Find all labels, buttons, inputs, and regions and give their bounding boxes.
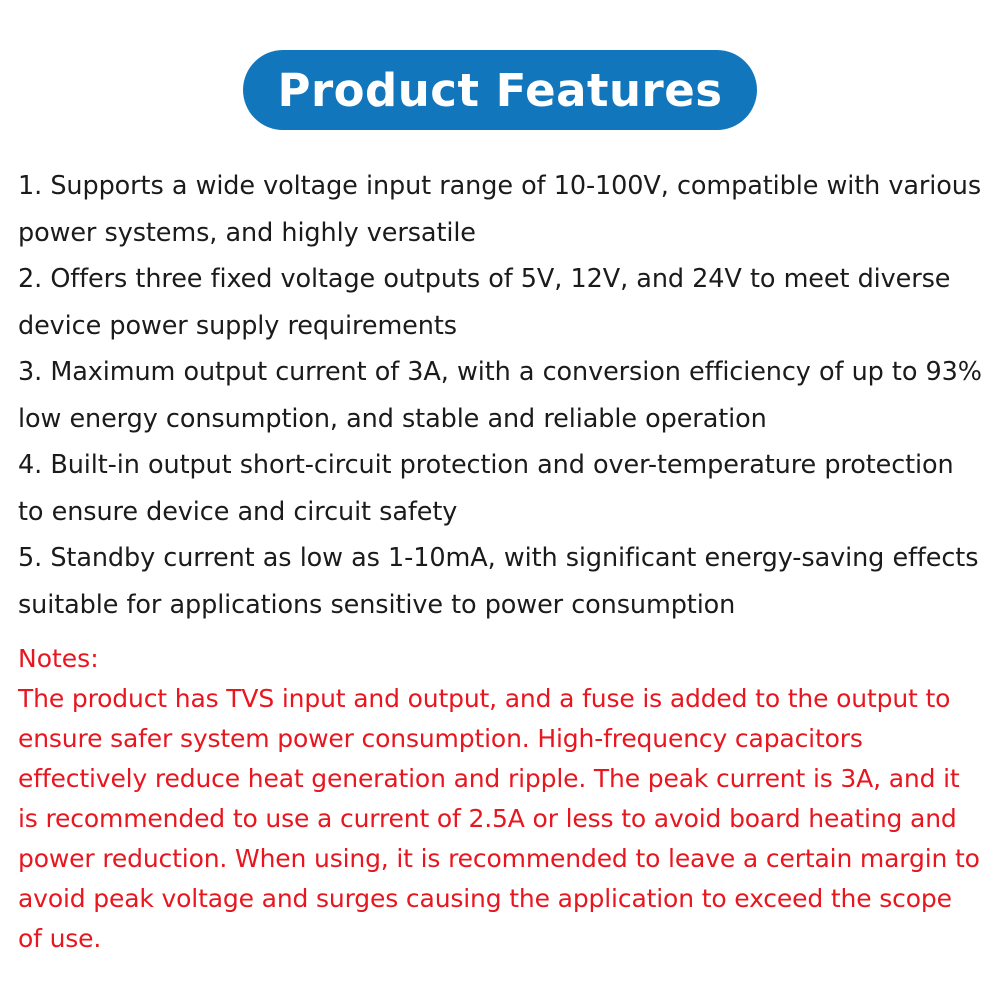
product-features-page: Product Features 1. Supports a wide volt… [0, 0, 1000, 1000]
feature-item-5: 5. Standby current as low as 1-10mA, wit… [18, 535, 982, 628]
notes-body: The product has TVS input and output, an… [18, 679, 982, 959]
page-title: Product Features [277, 68, 722, 113]
features-list: 1. Supports a wide voltage input range o… [18, 163, 982, 628]
feature-item-2: 2. Offers three fixed voltage outputs of… [18, 256, 982, 349]
feature-item-4: 4. Built-in output short-circuit protect… [18, 442, 982, 535]
feature-item-3: 3. Maximum output current of 3A, with a … [18, 349, 982, 442]
title-pill: Product Features [243, 50, 756, 130]
feature-item-1: 1. Supports a wide voltage input range o… [18, 163, 982, 256]
title-banner: Product Features [0, 50, 1000, 130]
notes-section: Notes: The product has TVS input and out… [18, 639, 982, 959]
notes-heading: Notes: [18, 639, 982, 679]
